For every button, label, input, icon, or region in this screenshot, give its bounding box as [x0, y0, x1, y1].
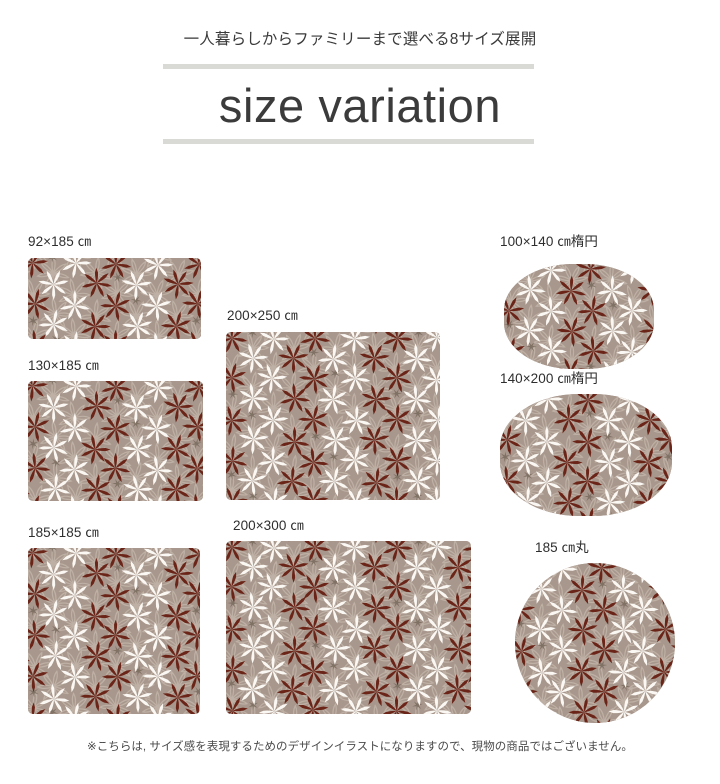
rug-label-200x300: 200×300 ㎝	[233, 518, 304, 534]
rug-swatch-185-round	[515, 563, 675, 723]
rug-label-130x185: 130×185 ㎝	[28, 358, 99, 374]
disclaimer-note: ※こちらは, サイズ感を表現するためのデザインイラストになりますので、現物の商品…	[0, 738, 720, 754]
lead-copy: 一人暮らしからファミリーまで選べる8サイズ展開	[0, 27, 720, 49]
rug-swatch-140x200-oval	[500, 394, 672, 516]
header-rule-bottom	[163, 139, 534, 144]
rug-label-185-round: 185 ㎝丸	[535, 540, 589, 556]
rug-label-140x200-oval: 140×200 ㎝楕円	[500, 371, 598, 387]
header-rule-top	[163, 64, 534, 69]
rug-swatch-185x185	[28, 548, 200, 714]
rug-label-200x250: 200×250 ㎝	[227, 308, 298, 324]
rug-swatch-92x185	[28, 258, 201, 339]
rug-swatch-130x185	[28, 381, 203, 501]
rug-swatch-200x300	[226, 541, 471, 714]
rug-label-185x185: 185×185 ㎝	[28, 525, 99, 541]
rug-swatch-200x250	[226, 332, 440, 500]
rug-swatch-100x140-oval	[504, 264, 654, 369]
rug-label-92x185: 92×185 ㎝	[28, 234, 91, 250]
rug-label-100x140-oval: 100×140 ㎝楕円	[500, 234, 598, 250]
page-title: size variation	[0, 78, 720, 134]
